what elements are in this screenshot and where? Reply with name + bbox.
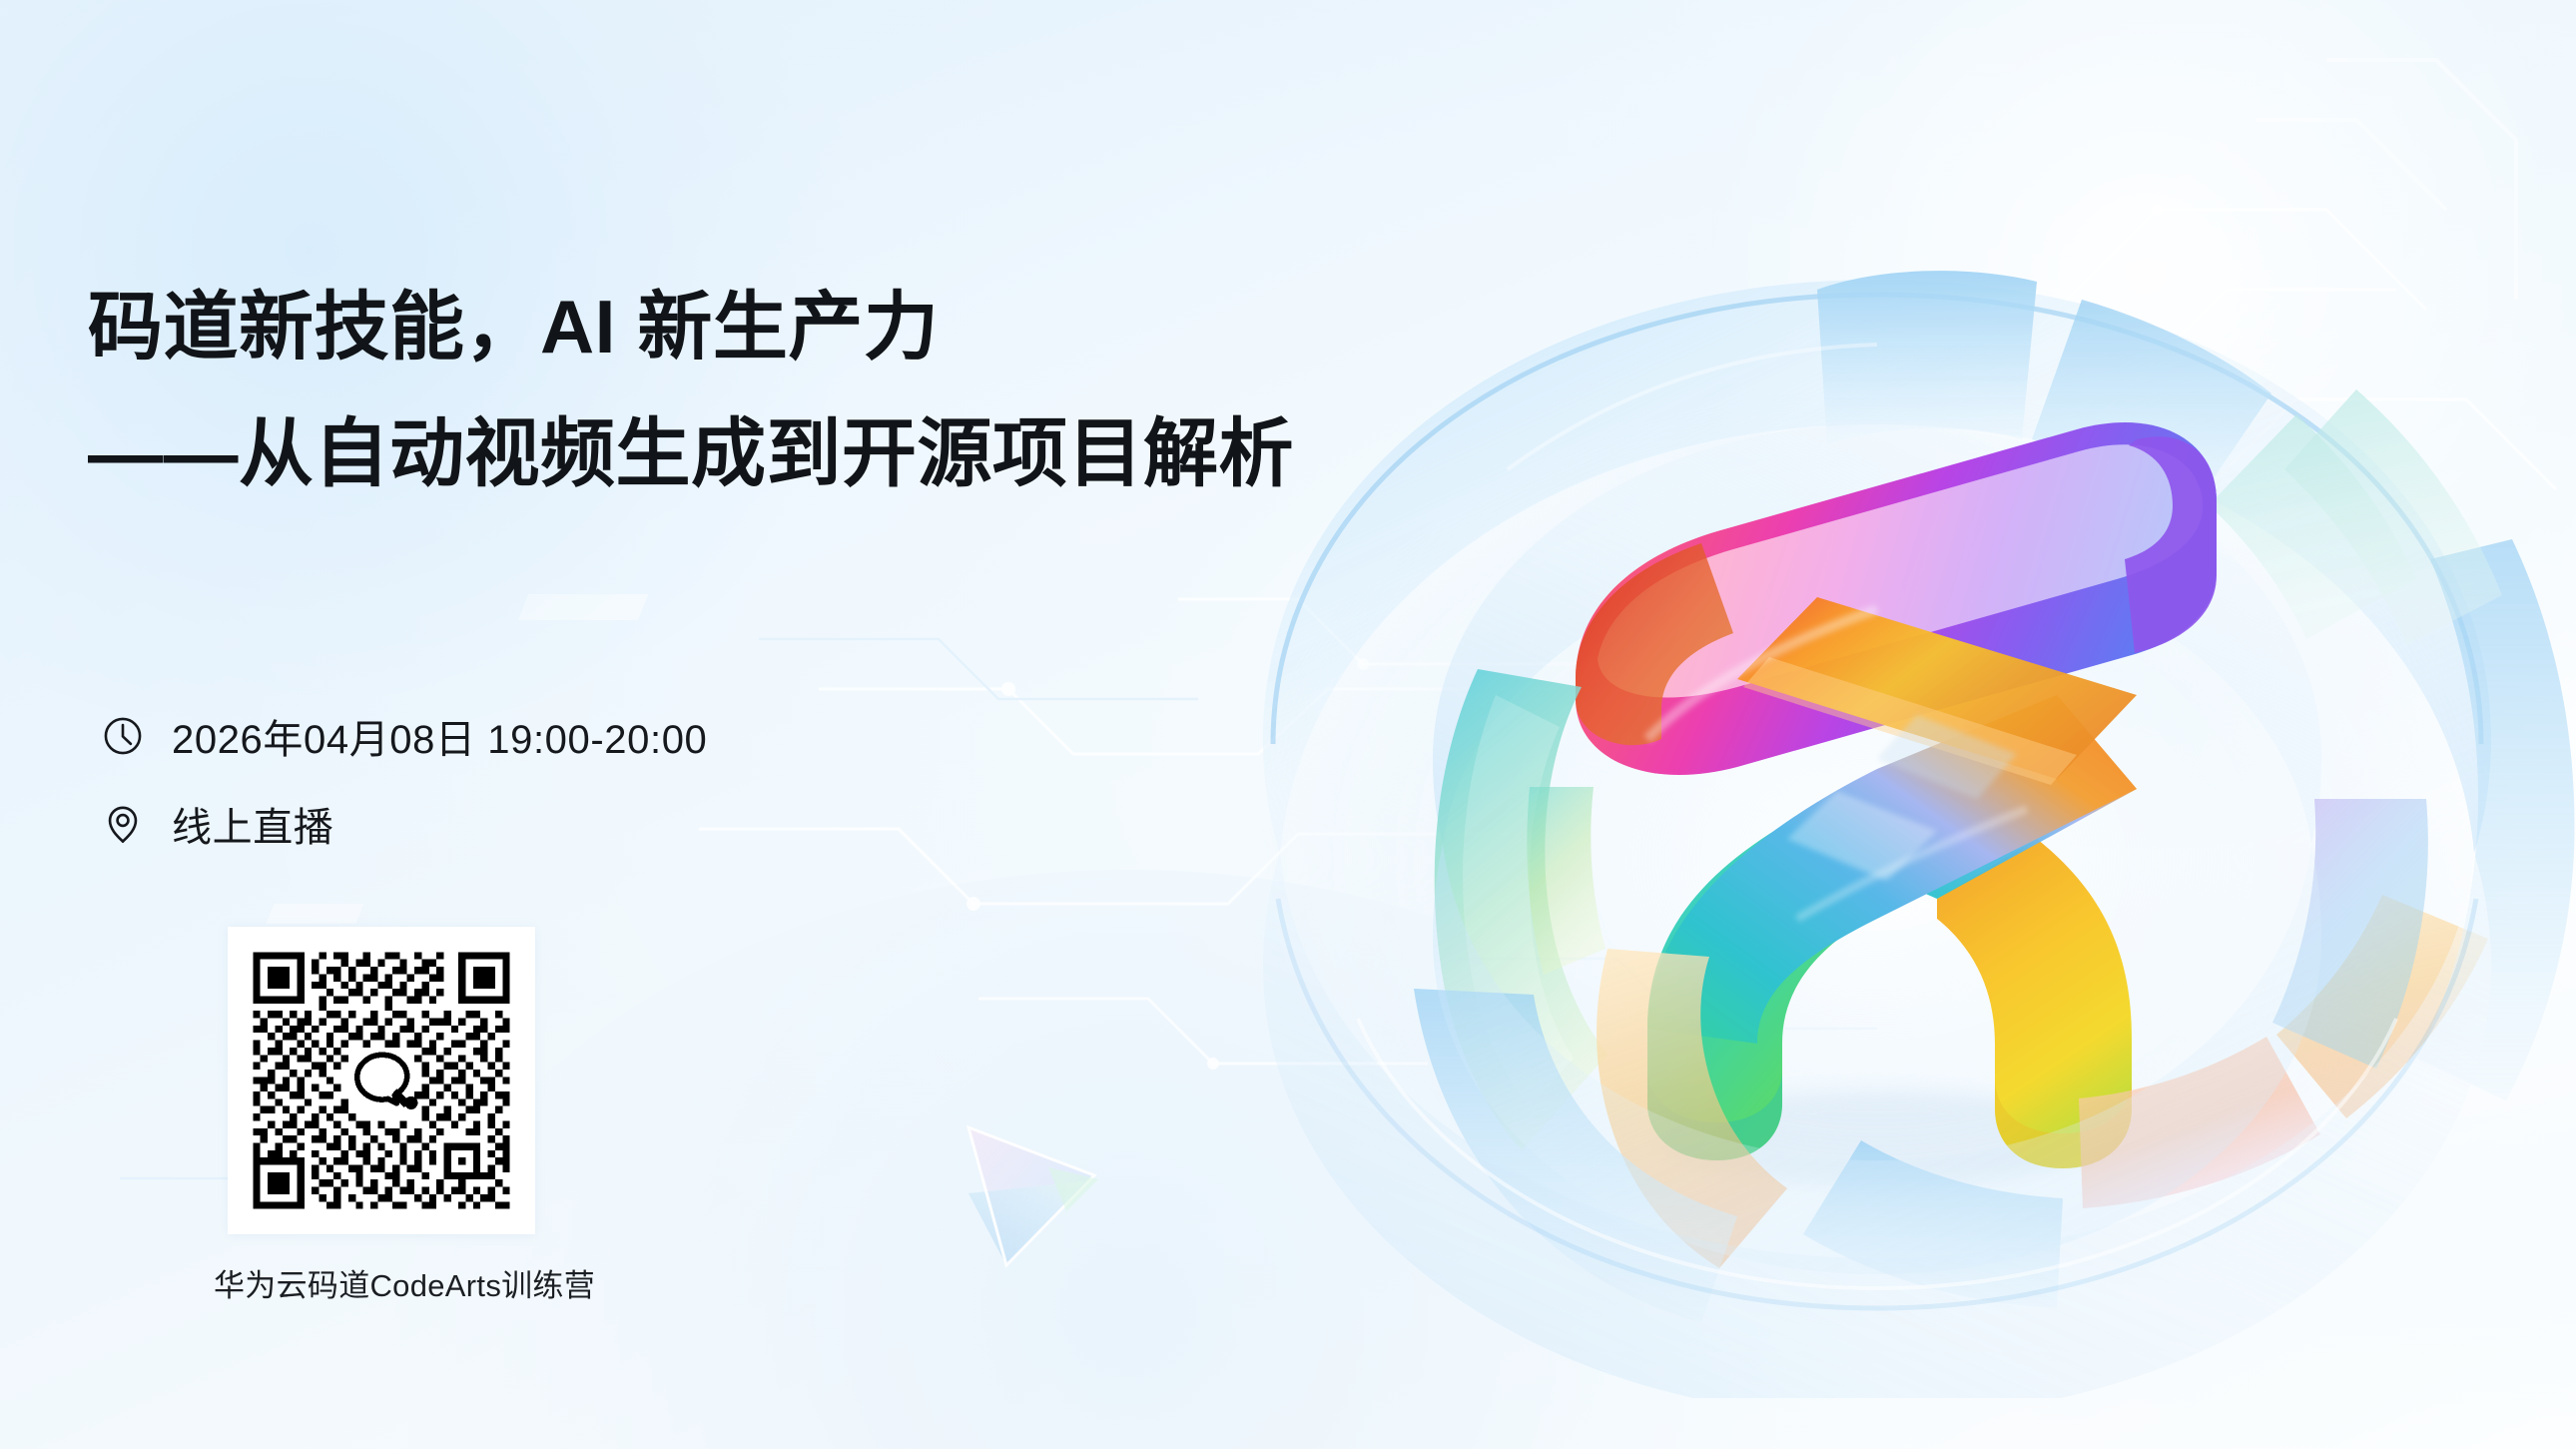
- page-title-line-1: 码道新技能，AI 新生产力: [88, 290, 1146, 364]
- event-datetime-text: 2026年04月08日 19:00-20:00: [172, 707, 707, 765]
- event-location-text: 线上直播: [172, 795, 333, 853]
- event-meta: 2026年04月08日 19:00-20:00 线上直播: [100, 699, 707, 861]
- content-column: 码道新技能，AI 新生产力 ——从自动视频生成到开源项目解析 2026年04月0…: [0, 0, 1178, 1449]
- qr-caption: 华为云码道CodeArts训练营: [214, 1260, 521, 1305]
- location-pin-icon: [100, 801, 146, 847]
- event-datetime-row: 2026年04月08日 19:00-20:00: [100, 699, 707, 773]
- page-title-line-2: ——从自动视频生成到开源项目解析: [88, 416, 1146, 491]
- event-poster: 码道新技能，AI 新生产力 ——从自动视频生成到开源项目解析 2026年04月0…: [0, 0, 2576, 1449]
- qr-code[interactable]: [228, 927, 535, 1234]
- title-block: 码道新技能，AI 新生产力 ——从自动视频生成到开源项目解析: [88, 290, 1146, 491]
- hero-artwork: [1178, 140, 2576, 1398]
- clock-icon: [100, 713, 146, 759]
- qr-block: 华为云码道CodeArts训练营: [228, 927, 535, 1305]
- event-location-row: 线上直播: [100, 787, 707, 861]
